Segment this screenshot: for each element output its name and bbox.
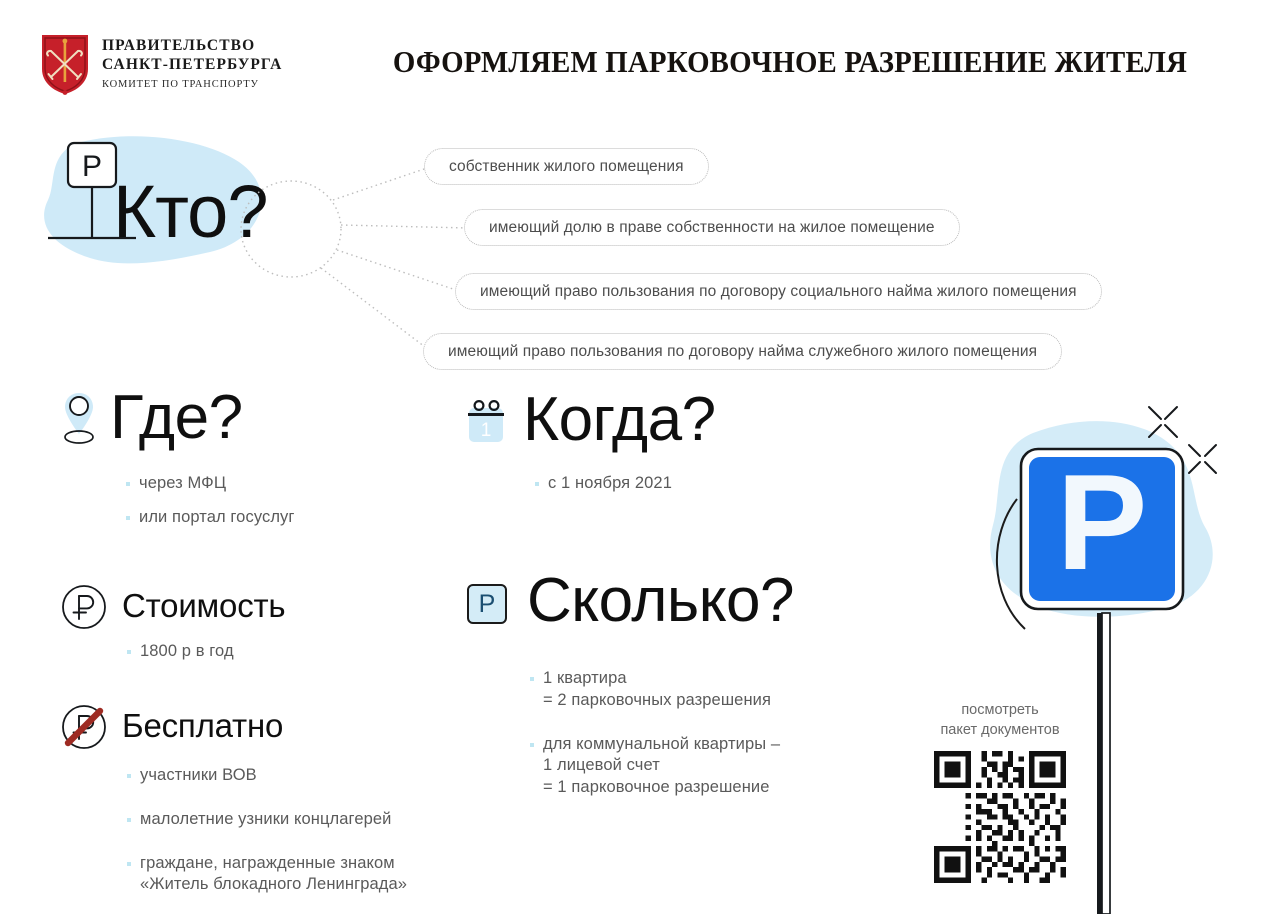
list-item: или портал госуслуг	[126, 507, 295, 529]
map-pin-icon	[62, 390, 92, 446]
howmany-list: 1 квартира = 2 парковочных разрешения дл…	[530, 668, 794, 799]
free-list: участники ВОВ малолетние узники концлаге…	[127, 765, 407, 896]
page-title: ОФОРМЛЯЕМ ПАРКОВОЧНОЕ РАЗРЕШЕНИЕ ЖИТЕЛЯ	[362, 44, 1218, 80]
svg-text:P: P	[82, 150, 102, 183]
page-header: ПРАВИТЕЛЬСТВО САНКТ-ПЕТЕРБУРГА КОМИТЕТ П…	[0, 0, 1280, 118]
logo-line-1: ПРАВИТЕЛЬСТВО	[102, 37, 282, 56]
section-cost: Стоимость 1800 р в год	[60, 583, 285, 675]
free-heading: Бесплатно	[122, 709, 283, 742]
infographic-page: ПРАВИТЕЛЬСТВО САНКТ-ПЕТЕРБУРГА КОМИТЕТ П…	[0, 0, 1280, 914]
who-heading: Кто?	[113, 175, 267, 249]
list-item: 1800 р в год	[127, 641, 285, 663]
section-howmany: P Сколько? 1 квартира = 2 парковочных ра…	[467, 576, 794, 811]
qr-caption: посмотреть пакет документов	[905, 700, 1095, 741]
svg-text:1: 1	[481, 420, 492, 441]
sparkle-icon	[1149, 407, 1177, 437]
cost-heading: Стоимость	[122, 589, 285, 622]
qr-block[interactable]: посмотреть пакет документов	[905, 700, 1095, 883]
list-item: для коммунальной квартиры – 1 лицевой сч…	[530, 734, 794, 799]
list-item: 1 квартира = 2 парковочных разрешения	[530, 668, 794, 712]
bullet-dot	[535, 482, 539, 486]
bullet-dot	[127, 862, 131, 866]
howmany-heading: Сколько?	[527, 570, 794, 632]
list-item: с 1 ноября 2021	[535, 473, 716, 495]
p-badge-letter: P	[467, 584, 507, 624]
who-option-3[interactable]: имеющий право пользования по договору на…	[423, 333, 1062, 370]
when-list: с 1 ноября 2021	[535, 473, 716, 495]
when-heading: Когда?	[523, 389, 716, 451]
where-heading: Где?	[110, 387, 243, 449]
who-option-1[interactable]: имеющий долю в праве собственности на жи…	[464, 209, 960, 246]
qr-code-icon[interactable]	[926, 751, 1074, 883]
list-item: малолетние узники концлагерей	[127, 809, 407, 831]
sparkle-icon	[1189, 445, 1216, 473]
who-option-0[interactable]: собственник жилого помещения	[424, 148, 709, 185]
section-when: 1 Когда? с 1 ноября 2021	[465, 389, 716, 507]
bullet-dot	[126, 516, 130, 520]
section-where: Где? через МФЦ или портал госуслуг	[62, 387, 295, 541]
bullet-dot	[530, 677, 534, 681]
list-item: через МФЦ	[126, 473, 295, 495]
bullet-dot	[127, 774, 131, 778]
who-option-2[interactable]: имеющий право пользования по договору со…	[455, 273, 1102, 310]
logo-line-3: КОМИТЕТ ПО ТРАНСПОРТУ	[102, 77, 282, 93]
bullet-dot	[127, 650, 131, 654]
cost-list: 1800 р в год	[127, 641, 285, 663]
sign-letter: P	[1057, 446, 1148, 598]
bullet-dot	[530, 743, 534, 747]
parking-p-box-icon: P	[467, 584, 507, 624]
government-logo: ПРАВИТЕЛЬСТВО САНКТ-ПЕТЕРБУРГА КОМИТЕТ П…	[40, 33, 282, 96]
section-free: Бесплатно участники ВОВ малолетние узник…	[60, 703, 407, 908]
list-item: участники ВОВ	[127, 765, 407, 787]
bullet-dot	[127, 818, 131, 822]
logo-line-2: САНКТ-ПЕТЕРБУРГА	[102, 56, 282, 75]
list-item: граждане, награжденные знаком «Житель бл…	[127, 853, 407, 897]
where-list: через МФЦ или портал госуслуг	[126, 473, 295, 529]
bullet-dot	[126, 482, 130, 486]
calendar-icon: 1	[465, 398, 503, 442]
spb-coat-of-arms-icon	[40, 33, 90, 96]
ruble-circle-icon	[60, 583, 104, 627]
ruble-circle-crossed-icon	[60, 703, 104, 747]
